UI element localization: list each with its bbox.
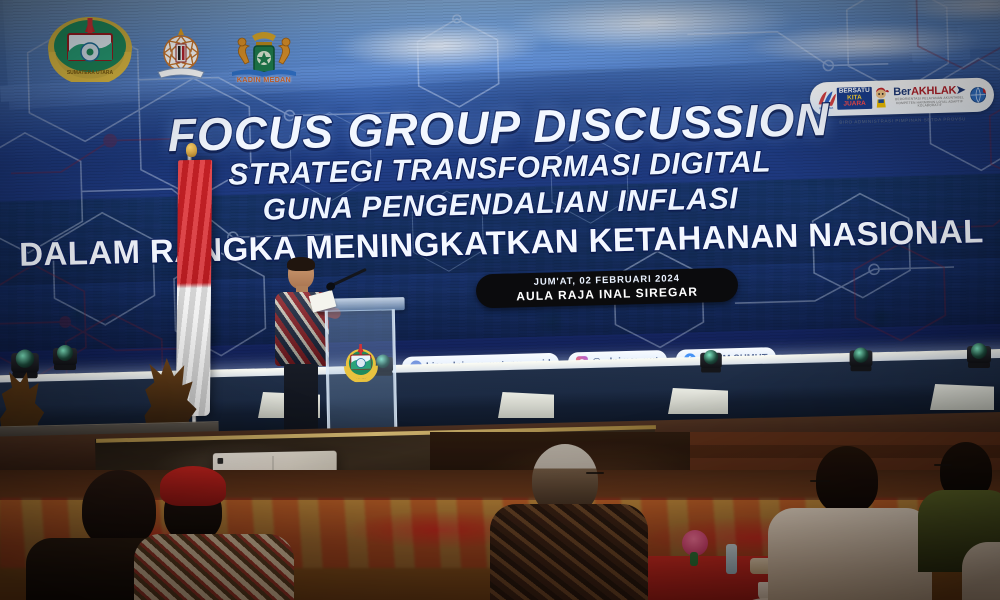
red-headscarf	[160, 466, 226, 506]
provinsi-sumatera-utara-seal: SUMATERA UTARA	[42, 12, 138, 82]
date-venue-banner: JUM'AT, 02 FEBRUARI 2024 AULA RAJA INAL …	[476, 268, 739, 309]
flag-finial	[186, 143, 197, 157]
stage-monitor-wedge	[930, 384, 994, 410]
logo-group-left: SUMATERA UTARA	[42, 12, 304, 82]
audience-batik-shirt	[490, 504, 648, 600]
eyeglasses	[586, 472, 604, 474]
moving-head-light	[52, 340, 78, 370]
moving-head-light	[10, 344, 40, 379]
podium	[321, 297, 402, 441]
speaker-hair	[287, 257, 315, 271]
kadin-medan-label: KADIN MEDAN	[224, 77, 304, 84]
audience-white-shirt	[962, 542, 1000, 600]
audience-batik-shirt	[134, 534, 294, 600]
moving-head-light	[966, 338, 992, 368]
audience-head	[82, 470, 156, 548]
audience-white-shirt	[768, 508, 932, 600]
stage-monitor-wedge	[498, 392, 554, 418]
podium-provincial-seal	[343, 342, 378, 383]
eyeglasses	[810, 480, 830, 482]
flower-stem	[690, 552, 698, 566]
stage-monitor-wedge	[668, 388, 728, 414]
institution-seal	[152, 24, 210, 82]
water-bottle	[726, 544, 737, 574]
svg-text:SUMATERA UTARA: SUMATERA UTARA	[67, 70, 114, 76]
kadin-medan-seal: KADIN MEDAN	[224, 22, 304, 82]
moving-head-light	[699, 346, 722, 373]
subwoofer-corner	[218, 458, 224, 464]
event-title-block: FOCUS GROUP DISCUSSION STRATEGI TRANSFOR…	[0, 92, 1000, 274]
conference-photo: SUMATERA UTARA	[0, 0, 1000, 600]
eyeglasses	[934, 464, 952, 466]
moving-head-light	[849, 343, 874, 372]
